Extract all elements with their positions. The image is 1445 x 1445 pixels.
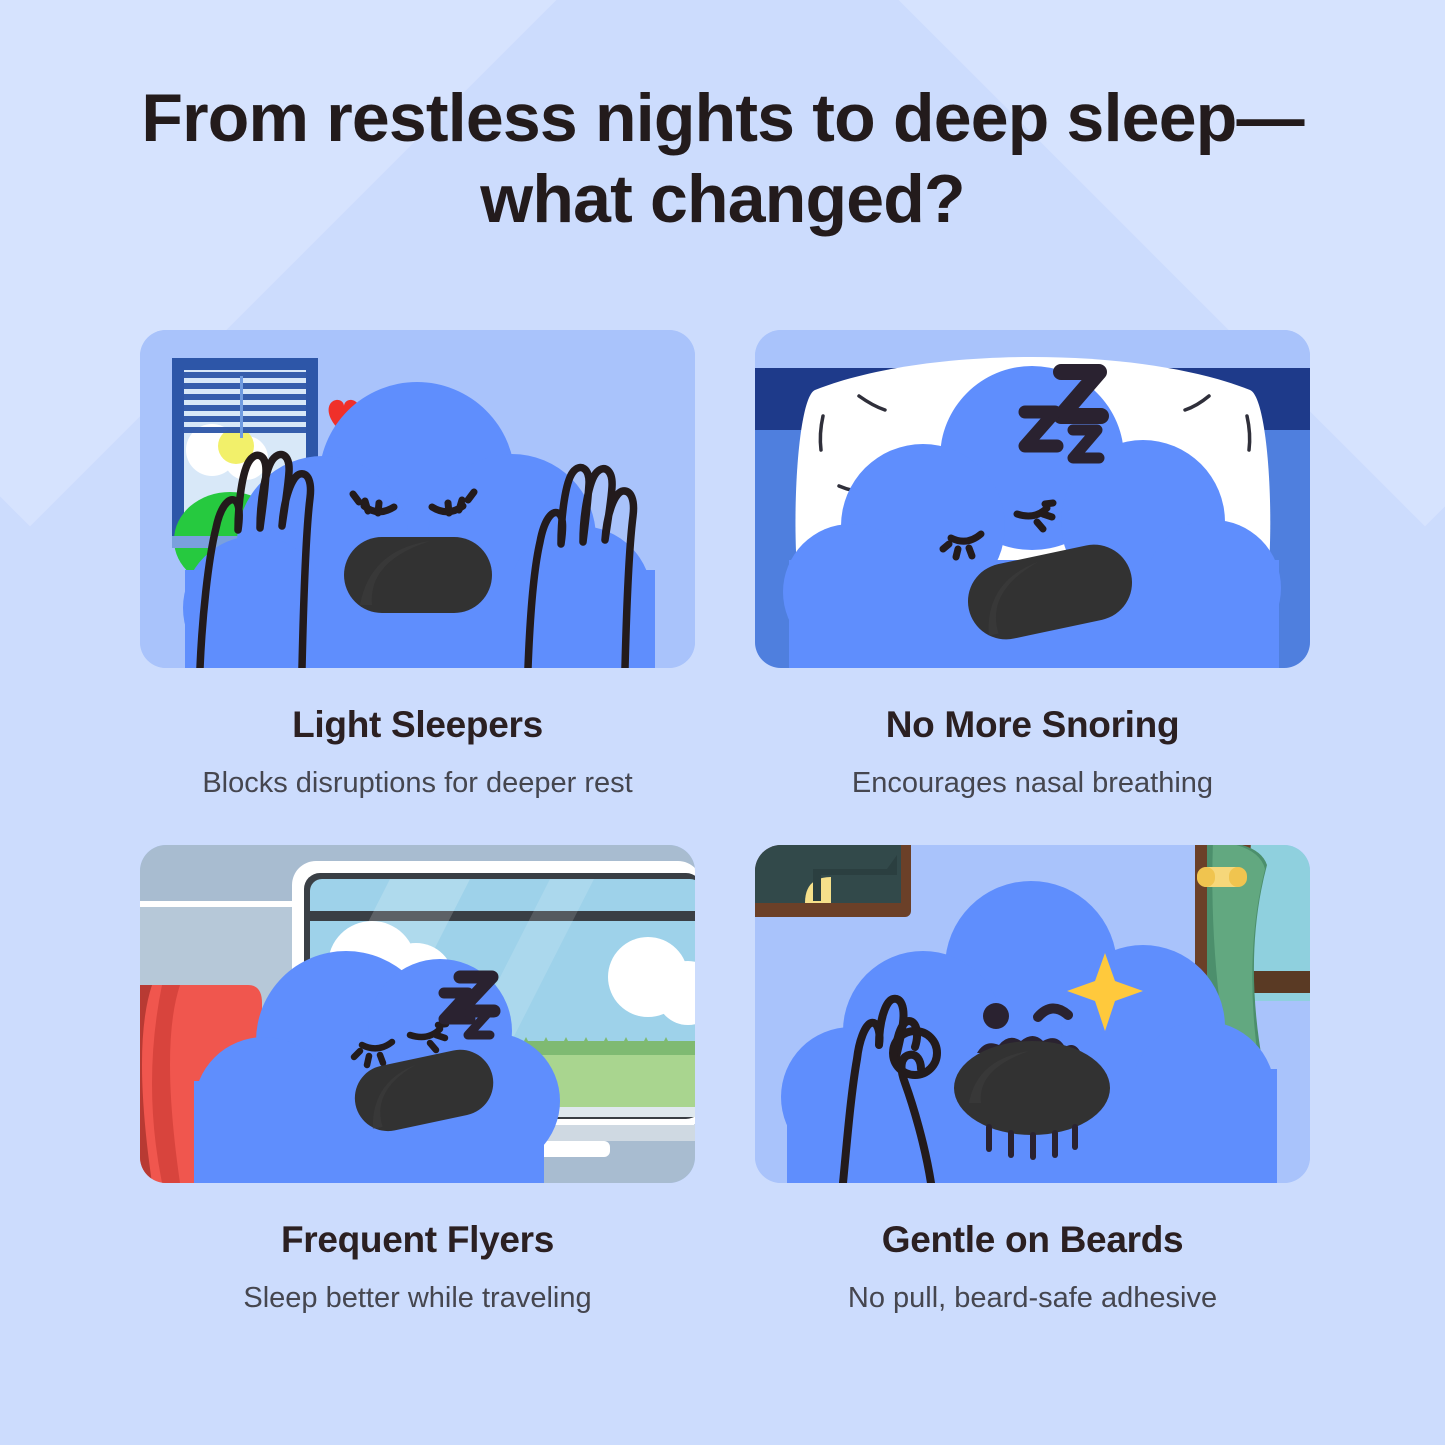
card-subtitle: Blocks disruptions for deeper rest — [140, 763, 695, 803]
curtain-tieback — [1197, 867, 1247, 887]
illustration-no-more-snoring — [755, 330, 1310, 668]
illustration-frequent-flyers — [140, 845, 695, 1183]
picture-frame — [755, 845, 911, 917]
light-sleepers-svg — [140, 330, 695, 668]
card-title: No More Snoring — [755, 704, 1310, 746]
open-eye-icon — [983, 1003, 1009, 1029]
benefit-card-grid: Light Sleepers Blocks disruptions for de… — [140, 330, 1310, 1318]
benefit-card-frequent-flyers[interactable]: Frequent Flyers Sleep better while trave… — [140, 845, 695, 1318]
no-more-snoring-svg — [755, 330, 1310, 668]
infographic-page: From restless nights to deep sleep—what … — [0, 0, 1445, 1445]
illustration-light-sleepers — [140, 330, 695, 668]
benefit-card-no-more-snoring[interactable]: No More Snoring Encourages nasal breathi… — [755, 330, 1310, 803]
card-title: Gentle on Beards — [755, 1219, 1310, 1261]
benefit-card-gentle-on-beards[interactable]: Gentle on Beards No pull, beard-safe adh… — [755, 845, 1310, 1318]
illustration-gentle-on-beards — [755, 845, 1310, 1183]
card-subtitle: No pull, beard-safe adhesive — [755, 1278, 1310, 1318]
card-title: Frequent Flyers — [140, 1219, 695, 1261]
card-title: Light Sleepers — [140, 704, 695, 746]
gentle-on-beards-svg — [755, 845, 1310, 1183]
card-subtitle: Sleep better while traveling — [140, 1278, 695, 1318]
card-subtitle: Encourages nasal breathing — [755, 763, 1310, 803]
page-title: From restless nights to deep sleep—what … — [110, 78, 1335, 240]
benefit-card-light-sleepers[interactable]: Light Sleepers Blocks disruptions for de… — [140, 330, 695, 803]
frequent-flyers-svg — [140, 845, 695, 1183]
